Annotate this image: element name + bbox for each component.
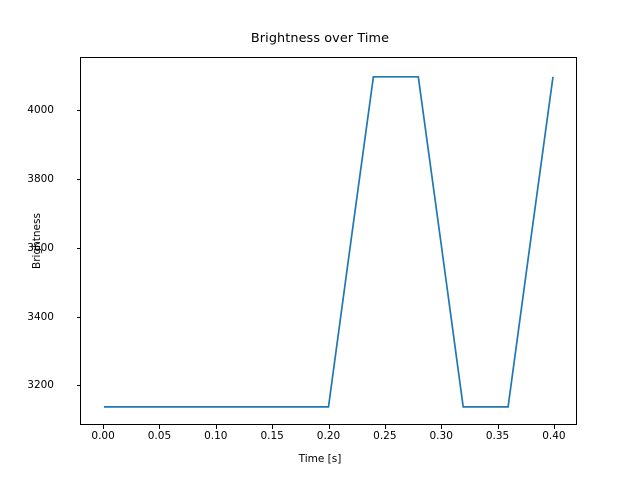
x-axis-tick-mark xyxy=(441,425,442,429)
x-axis-tick-label: 0.05 xyxy=(148,430,171,442)
plot-area xyxy=(80,57,577,425)
matplotlib-figure: Brightness over Time Brightness 32003400… xyxy=(0,0,640,480)
x-axis-tick-mark xyxy=(103,425,104,429)
y-axis-tick-label: 3600 xyxy=(27,242,54,254)
x-axis-tick-mark xyxy=(329,425,330,429)
x-axis-tick-label: 0.10 xyxy=(204,430,227,442)
x-axis-tick-mark xyxy=(498,425,499,429)
x-axis-tick-label: 0.30 xyxy=(429,430,452,442)
line-series-canvas xyxy=(81,58,576,424)
x-axis-tick-mark xyxy=(385,425,386,429)
y-axis-tick-label: 3400 xyxy=(27,311,54,323)
line-series-brightness xyxy=(104,77,553,407)
x-axis-tick-label: 0.15 xyxy=(260,430,283,442)
page-title: Brightness over Time xyxy=(0,31,640,46)
x-axis-tick-mark xyxy=(554,425,555,429)
y-axis-tick-label: 3800 xyxy=(27,173,54,185)
y-axis-tick-label: 3200 xyxy=(27,379,54,391)
x-axis-tick-label: 0.00 xyxy=(91,430,114,442)
x-axis-tick-mark xyxy=(159,425,160,429)
x-axis-tick-label: 0.25 xyxy=(373,430,396,442)
x-axis-tick-label: 0.35 xyxy=(486,430,509,442)
x-axis-label: Time [s] xyxy=(0,453,640,465)
x-axis-tick-label: 0.40 xyxy=(542,430,565,442)
x-axis-tick-mark xyxy=(272,425,273,429)
x-axis-tick-label: 0.20 xyxy=(317,430,340,442)
y-axis-tick-label: 4000 xyxy=(27,104,54,116)
x-axis-tick-mark xyxy=(216,425,217,429)
